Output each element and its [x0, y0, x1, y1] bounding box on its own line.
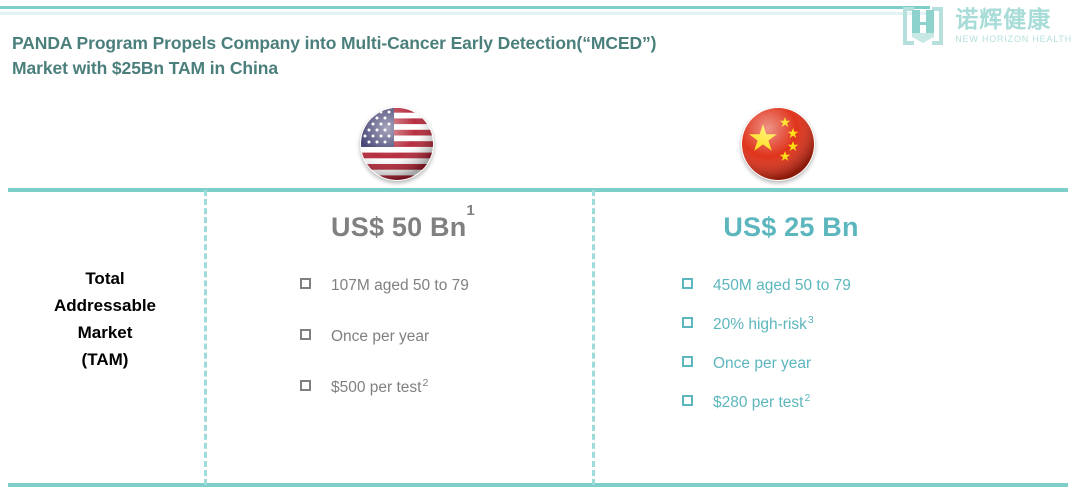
list-item-label: Once per year [331, 328, 429, 346]
checkbox-square-icon [682, 278, 693, 289]
header-rule-secondary [0, 12, 930, 15]
us-tam-heading: US$ 50 Bn1 [220, 212, 586, 243]
slide: 诺辉健康 NEW HORIZON HEALTH PANDA Program Pr… [0, 0, 1080, 500]
checkbox-square-icon [300, 329, 311, 340]
row-label-line-3: Market [10, 320, 200, 347]
checkbox-square-icon [682, 317, 693, 328]
logo-name-en: NEW HORIZON HEALTH [955, 35, 1072, 44]
us-bullet-list: 107M aged 50 to 79 Once per year $500 pe… [220, 277, 586, 397]
column-divider-2 [592, 190, 595, 485]
header-rule-primary [0, 6, 930, 9]
us-tam-footnote: 1 [466, 202, 475, 219]
list-item-label: $280 per test [713, 394, 803, 412]
page-title-line-1: PANDA Program Propels Company into Multi… [12, 33, 656, 53]
list-item-label: 20% high-risk [713, 316, 807, 334]
list-item: 450M aged 50 to 79 [682, 277, 1010, 295]
company-logo: 诺辉健康 NEW HORIZON HEALTH [899, 4, 1072, 48]
list-item-footnote: 3 [808, 314, 814, 326]
list-item: Once per year [300, 328, 586, 346]
row-label-line-1: Total [10, 266, 200, 293]
page-title: PANDA Program Propels Company into Multi… [12, 31, 712, 81]
checkbox-square-icon [682, 356, 693, 367]
list-item-label: 450M aged 50 to 79 [713, 277, 851, 295]
flag-china-icon [741, 107, 815, 181]
list-item: $500 per test2 [300, 379, 586, 397]
flag-united-states-icon [360, 107, 434, 181]
column-united-states: US$ 50 Bn1 107M aged 50 to 79 Once per y… [220, 212, 586, 430]
list-item-footnote: 2 [422, 377, 428, 389]
checkbox-square-icon [300, 380, 311, 391]
cn-bullet-list: 450M aged 50 to 79 20% high-risk3 Once p… [610, 277, 1010, 412]
us-tam-value: US$ 50 Bn [331, 212, 466, 242]
list-item-footnote: 2 [804, 392, 810, 404]
list-item: Once per year [682, 355, 1010, 373]
checkbox-square-icon [682, 395, 693, 406]
column-china: US$ 25 Bn 450M aged 50 to 79 20% high-ri… [610, 212, 1010, 433]
table-bottom-border [8, 483, 1068, 487]
column-divider-1 [204, 190, 207, 485]
row-label-line-4: (TAM) [10, 347, 200, 374]
row-label-tam: Total Addressable Market (TAM) [10, 266, 200, 373]
logo-name-cn: 诺辉健康 [955, 9, 1072, 32]
list-item-label: 107M aged 50 to 79 [331, 277, 469, 295]
cn-tam-heading: US$ 25 Bn [610, 212, 1010, 243]
list-item: 20% high-risk3 [682, 316, 1010, 334]
list-item: $280 per test2 [682, 394, 1010, 412]
cn-tam-value: US$ 25 Bn [723, 212, 858, 242]
table-top-border [8, 188, 1068, 192]
checkbox-square-icon [300, 278, 311, 289]
list-item: 107M aged 50 to 79 [300, 277, 586, 295]
row-label-line-2: Addressable [10, 293, 200, 320]
nh-monogram-icon [899, 4, 947, 48]
list-item-label: $500 per test [331, 379, 421, 397]
page-title-line-2: Market with $25Bn TAM in China [12, 58, 278, 78]
list-item-label: Once per year [713, 355, 811, 373]
